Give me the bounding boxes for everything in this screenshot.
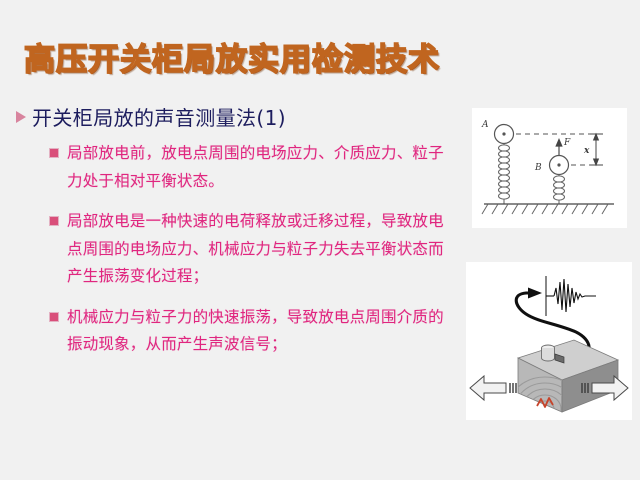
subtitle-row: 开关柜局放的声音测量法(1) bbox=[16, 102, 286, 131]
label-mass-b: B bbox=[534, 163, 542, 173]
arrow-right-bullet-icon bbox=[16, 111, 26, 123]
list-item: 机械应力与粒子力的快速振荡，导致放电点周围介质的振动现象，从而产生声波信号； bbox=[50, 304, 450, 359]
square-bullet-icon bbox=[50, 149, 58, 157]
spring-mass-equilibrium-diagram: A B bbox=[472, 108, 627, 228]
list-item: 局部放电前，放电点周围的电场应力、介质应力、粒子力处于相对平衡状态。 bbox=[50, 140, 450, 195]
label-force-f: F bbox=[563, 138, 571, 148]
subtitle-text: 开关柜局放的声音测量法(1) bbox=[32, 102, 286, 131]
bullet-text: 局部放电前，放电点周围的电场应力、介质应力、粒子力处于相对平衡状态。 bbox=[67, 140, 450, 195]
square-bullet-icon bbox=[50, 217, 58, 225]
page-title: 高压开关柜局放实用检测技术 bbox=[24, 38, 444, 82]
label-displacement-x: x bbox=[583, 146, 590, 156]
acoustic-emission-sensor-diagram bbox=[466, 262, 632, 420]
label-mass-a: A bbox=[481, 120, 489, 130]
square-bullet-icon bbox=[50, 313, 58, 321]
bullet-text: 机械应力与粒子力的快速振荡，导致放电点周围介质的振动现象，从而产生声波信号； bbox=[67, 304, 450, 359]
slide-title-block: 高压开关柜局放实用检测技术 bbox=[24, 38, 444, 84]
slide-canvas: 高压开关柜局放实用检测技术 开关柜局放的声音测量法(1) 局部放电前，放电点周围… bbox=[0, 0, 640, 480]
bullet-list: 局部放电前，放电点周围的电场应力、介质应力、粒子力处于相对平衡状态。 局部放电是… bbox=[50, 140, 450, 372]
list-item: 局部放电是一种快速的电荷释放或迁移过程，导致放电点周围的电场应力、机械应力与粒子… bbox=[50, 208, 450, 291]
bullet-text: 局部放电是一种快速的电荷释放或迁移过程，导致放电点周围的电场应力、机械应力与粒子… bbox=[67, 208, 450, 291]
